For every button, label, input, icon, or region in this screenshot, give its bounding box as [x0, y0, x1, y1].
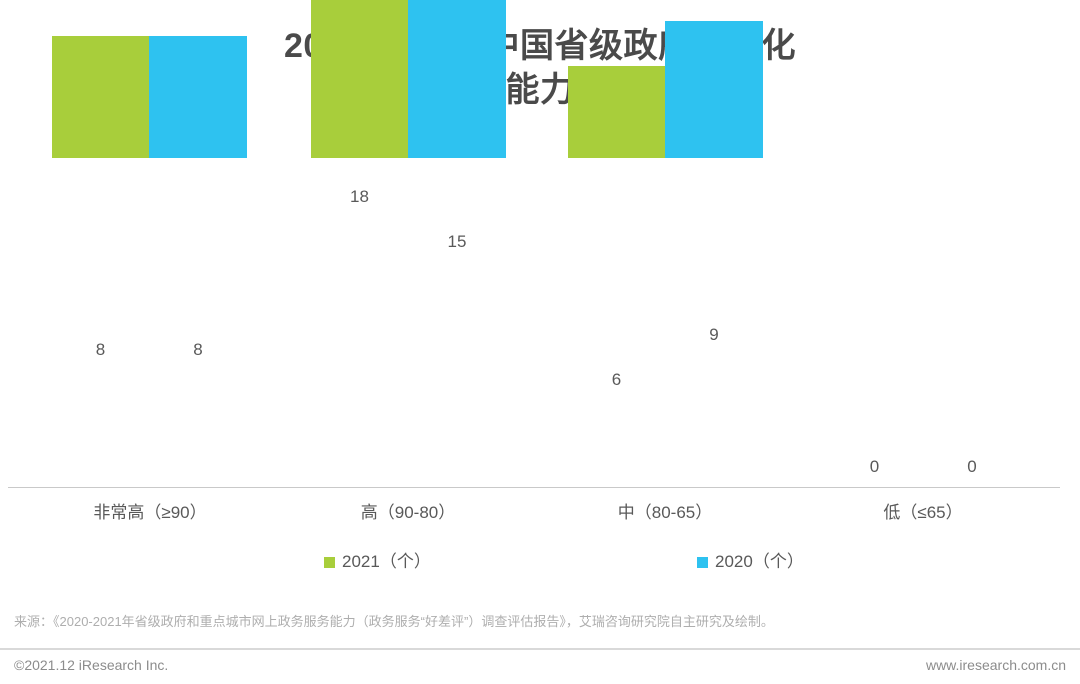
x-axis-label-4: 低（≤65）: [823, 500, 1023, 526]
bar-2021-group-2[interactable]: [311, 0, 408, 158]
legend-label-2021: 2021（个）: [342, 550, 431, 574]
plot-area: 8 8 18 15 6 9 0 0: [0, 150, 1080, 495]
x-axis-labels: 非常高（≥90） 高（90-80） 中（80-65） 低（≤65）: [0, 500, 1080, 528]
value-label-2020-group-4: 0: [923, 457, 1021, 477]
legend-label-2020: 2020（个）: [715, 550, 804, 574]
footer-website[interactable]: www.iresearch.com.cn: [926, 657, 1066, 673]
value-label-2021-group-4: 0: [826, 457, 923, 477]
legend-swatch-2021-icon: [324, 557, 335, 568]
chart-legend: 2021（个） 2020（个）: [0, 550, 1080, 576]
value-label-2020-group-2: 15: [408, 232, 506, 252]
footer-copyright: ©2021.12 iResearch Inc.: [14, 657, 168, 673]
bar-2020-group-2[interactable]: [408, 0, 506, 158]
bar-2020-group-3[interactable]: [665, 21, 763, 158]
footer: ©2021.12 iResearch Inc. www.iresearch.co…: [0, 652, 1080, 684]
x-axis-label-3: 中（80-65）: [565, 500, 765, 526]
bar-2020-group-1[interactable]: [149, 36, 247, 158]
value-label-2021-group-1: 8: [52, 340, 149, 360]
chart-page: { "chart_data": { "type": "bar", "title"…: [0, 0, 1080, 684]
x-axis-label-1: 非常高（≥90）: [50, 500, 250, 526]
source-note: 来源：《2020-2021年省级政府和重点城市网上政务服务能力（政务服务“好差评…: [14, 612, 1066, 632]
value-label-2021-group-2: 18: [311, 187, 408, 207]
value-label-2020-group-1: 8: [149, 340, 247, 360]
legend-item-2021[interactable]: 2021（个）: [324, 550, 431, 574]
x-axis-line: [8, 487, 1060, 488]
bar-2021-group-1[interactable]: [52, 36, 149, 158]
legend-item-2020[interactable]: 2020（个）: [697, 550, 804, 574]
value-label-2021-group-3: 6: [568, 370, 665, 390]
bar-2021-group-3[interactable]: [568, 66, 665, 158]
x-axis-label-2: 高（90-80）: [308, 500, 508, 526]
footer-divider: [0, 648, 1080, 650]
legend-swatch-2020-icon: [697, 557, 708, 568]
value-label-2020-group-3: 9: [665, 325, 763, 345]
